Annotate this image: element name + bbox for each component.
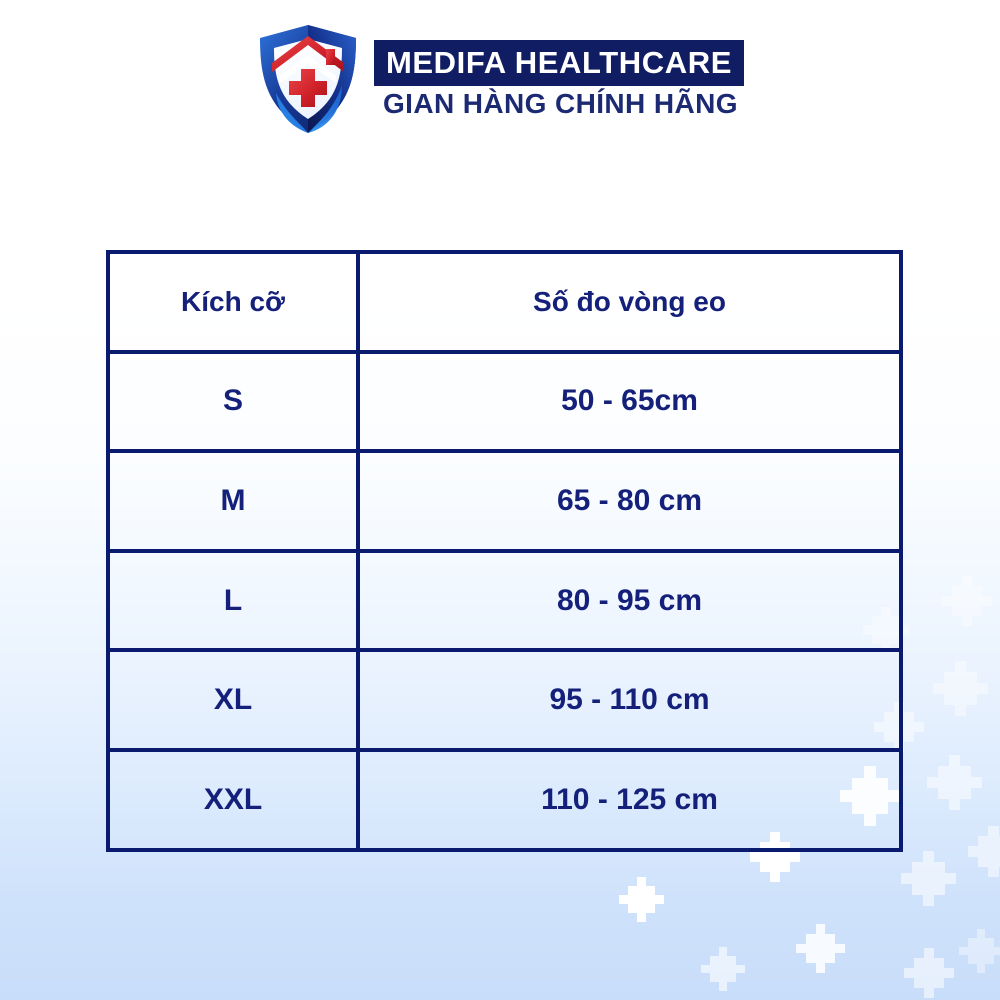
size-chart-container: Kích cỡ Số đo vòng eo S 50 - 65cm M 65 -… <box>106 250 903 848</box>
table-row: S 50 - 65cm <box>108 352 901 452</box>
cell-size: M <box>108 451 358 551</box>
medical-shield-house-cross-icon <box>256 23 360 135</box>
table-row: XXL 110 - 125 cm <box>108 750 901 850</box>
table-row: XL 95 - 110 cm <box>108 650 901 750</box>
table-row: L 80 - 95 cm <box>108 551 901 651</box>
medical-cross-icon <box>628 886 655 913</box>
medical-cross-icon <box>710 956 736 982</box>
brand-header: MEDIFA HEALTHCARE GIAN HÀNG CHÍNH HÃNG <box>0 14 1000 144</box>
medical-cross-icon <box>938 766 971 799</box>
cell-waist: 110 - 125 cm <box>358 750 901 850</box>
medical-cross-icon <box>806 934 835 963</box>
brand-tagline: GIAN HÀNG CHÍNH HÃNG <box>374 90 738 118</box>
medical-cross-icon <box>978 836 1000 867</box>
cell-waist: 50 - 65cm <box>358 352 901 452</box>
brand-text-block: MEDIFA HEALTHCARE GIAN HÀNG CHÍNH HÃNG <box>374 40 744 118</box>
column-header-waist: Số đo vòng eo <box>358 252 901 352</box>
size-chart-table: Kích cỡ Số đo vòng eo S 50 - 65cm M 65 -… <box>106 250 903 852</box>
cell-size: S <box>108 352 358 452</box>
cell-waist: 95 - 110 cm <box>358 650 901 750</box>
medical-cross-icon <box>914 958 944 988</box>
cell-size: L <box>108 551 358 651</box>
cell-size: XL <box>108 650 358 750</box>
medical-cross-icon <box>944 672 977 705</box>
cell-waist: 65 - 80 cm <box>358 451 901 551</box>
cell-waist: 80 - 95 cm <box>358 551 901 651</box>
medical-cross-icon <box>968 938 994 964</box>
medical-cross-icon <box>952 586 982 616</box>
column-header-size: Kích cỡ <box>108 252 358 352</box>
table-header-row: Kích cỡ Số đo vòng eo <box>108 252 901 352</box>
cell-size: XXL <box>108 750 358 850</box>
table-row: M 65 - 80 cm <box>108 451 901 551</box>
medical-cross-icon <box>912 862 945 895</box>
brand-name: MEDIFA HEALTHCARE <box>374 40 744 86</box>
